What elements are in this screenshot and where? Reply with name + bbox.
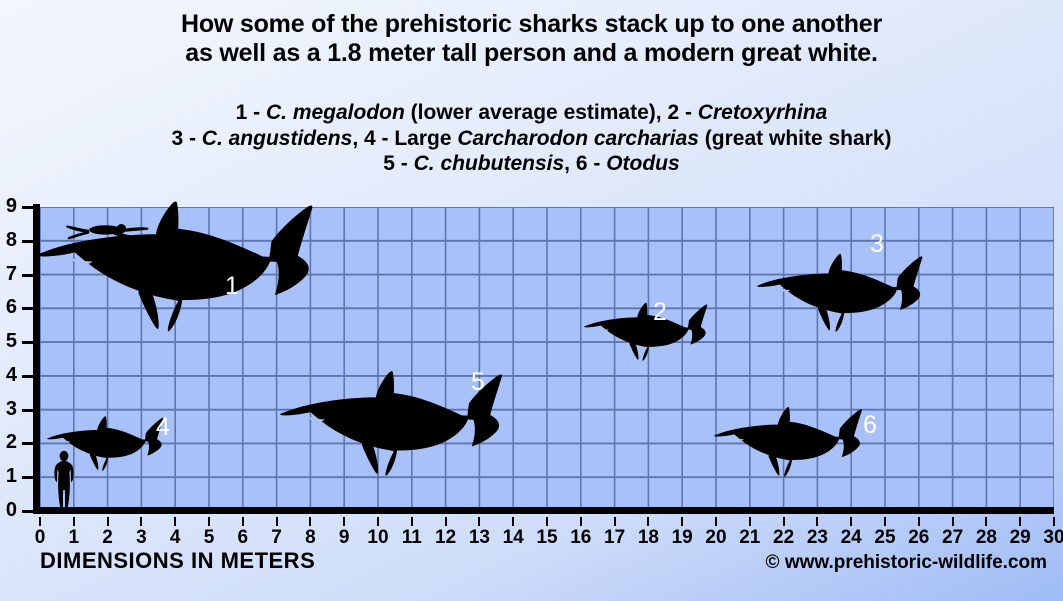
legend-1-note: (lower average estimate), 2 - bbox=[405, 101, 698, 124]
legend-5-index: 5 - bbox=[383, 152, 413, 175]
x-tick-mark-2 bbox=[107, 517, 109, 526]
x-tick-label-2: 2 bbox=[102, 528, 113, 547]
x-tick-label-0: 0 bbox=[35, 528, 46, 547]
legend-row-2: 3 - C. angustidens, 4 - Large Carcharodo… bbox=[0, 126, 1063, 152]
plot-area: 1 2 3 bbox=[40, 207, 1054, 511]
shark-2-label: 2 bbox=[653, 298, 667, 326]
y-tick-label-3: 3 bbox=[0, 399, 17, 419]
shark-5-label: 5 bbox=[471, 368, 485, 396]
x-tick-mark-3 bbox=[140, 517, 142, 526]
legend-6-index: , 6 - bbox=[564, 152, 606, 175]
legend-4-index: , 4 - Large bbox=[352, 127, 457, 150]
x-tick-label-29: 29 bbox=[1010, 528, 1031, 547]
y-tick-label-4: 4 bbox=[0, 365, 17, 385]
x-tick-mark-22 bbox=[783, 517, 785, 526]
title-line-2: as well as a 1.8 meter tall person and a… bbox=[0, 39, 1063, 68]
x-tick-mark-14 bbox=[512, 517, 514, 526]
x-tick-mark-13 bbox=[478, 517, 480, 526]
x-tick-mark-28 bbox=[985, 517, 987, 526]
legend-3-species: C. angustidens bbox=[202, 127, 353, 150]
x-tick-mark-17 bbox=[614, 517, 616, 526]
x-tick-mark-23 bbox=[816, 517, 818, 526]
x-tick-label-24: 24 bbox=[841, 528, 862, 547]
shark-5-chubutensis bbox=[280, 371, 502, 476]
shark-3-label: 3 bbox=[870, 230, 884, 258]
legend-6-species: Otodus bbox=[606, 152, 680, 175]
x-tick-label-28: 28 bbox=[976, 528, 997, 547]
page-title: How some of the prehistoric sharks stack… bbox=[0, 10, 1063, 68]
legend-1-species: C. megalodon bbox=[266, 101, 405, 124]
shark-6-otodus bbox=[714, 407, 862, 477]
x-tick-mark-19 bbox=[681, 517, 683, 526]
x-tick-label-23: 23 bbox=[807, 528, 828, 547]
x-tick-mark-29 bbox=[1019, 517, 1021, 526]
x-tick-label-30: 30 bbox=[1043, 528, 1063, 547]
x-tick-label-19: 19 bbox=[672, 528, 693, 547]
y-tick-label-6: 6 bbox=[0, 297, 17, 317]
x-tick-mark-0 bbox=[39, 517, 41, 526]
infographic-page: How some of the prehistoric sharks stack… bbox=[0, 0, 1063, 601]
x-axis-line bbox=[33, 507, 1054, 514]
x-tick-label-22: 22 bbox=[773, 528, 794, 547]
shark-3-angustidens bbox=[757, 254, 922, 332]
y-tick-label-1: 1 bbox=[0, 466, 17, 486]
shark-4-label: 4 bbox=[156, 413, 170, 441]
x-tick-mark-4 bbox=[174, 517, 176, 526]
x-tick-label-15: 15 bbox=[536, 528, 557, 547]
y-tick-label-8: 8 bbox=[0, 230, 17, 250]
silhouette-layer: 1 2 3 bbox=[40, 207, 1054, 511]
x-tick-label-11: 11 bbox=[402, 528, 422, 547]
x-tick-mark-26 bbox=[918, 517, 920, 526]
x-tick-label-25: 25 bbox=[874, 528, 895, 547]
x-tick-label-26: 26 bbox=[908, 528, 929, 547]
shark-2-cretoxyrhina bbox=[584, 303, 707, 361]
x-tick-mark-18 bbox=[647, 517, 649, 526]
x-tick-mark-24 bbox=[850, 517, 852, 526]
legend-5-species: C. chubutensis bbox=[414, 152, 565, 175]
x-tick-mark-16 bbox=[580, 517, 582, 526]
x-tick-label-8: 8 bbox=[305, 528, 316, 547]
legend-4-species: Carcharodon carcharias bbox=[457, 127, 699, 150]
y-tick-label-2: 2 bbox=[0, 432, 17, 452]
legend-4-note: (great white shark) bbox=[699, 127, 892, 150]
x-tick-label-1: 1 bbox=[69, 528, 80, 547]
standing-person-silhouette bbox=[54, 451, 73, 511]
x-tick-label-17: 17 bbox=[604, 528, 625, 547]
x-tick-label-14: 14 bbox=[503, 528, 524, 547]
shark-6-label: 6 bbox=[863, 411, 877, 439]
x-tick-label-5: 5 bbox=[204, 528, 215, 547]
x-tick-label-21: 21 bbox=[739, 528, 760, 547]
x-tick-label-4: 4 bbox=[170, 528, 181, 547]
x-tick-label-6: 6 bbox=[238, 528, 249, 547]
species-legend: 1 - C. megalodon (lower average estimate… bbox=[0, 100, 1063, 177]
x-tick-label-3: 3 bbox=[136, 528, 147, 547]
legend-2-species: Cretoxyrhina bbox=[698, 101, 828, 124]
x-tick-label-16: 16 bbox=[570, 528, 591, 547]
x-axis-labels: 0123456789101112131415161718192021222324… bbox=[0, 517, 1063, 549]
x-tick-mark-6 bbox=[242, 517, 244, 526]
legend-row-3: 5 - C. chubutensis, 6 - Otodus bbox=[0, 151, 1063, 177]
x-tick-label-20: 20 bbox=[705, 528, 726, 547]
x-tick-mark-12 bbox=[445, 517, 447, 526]
x-tick-mark-7 bbox=[276, 517, 278, 526]
x-tick-label-10: 10 bbox=[367, 528, 388, 547]
x-tick-label-9: 9 bbox=[339, 528, 350, 547]
credit-watermark: © www.prehistoric-wildlife.com bbox=[766, 552, 1047, 574]
y-tick-label-7: 7 bbox=[0, 264, 17, 284]
y-tick-label-5: 5 bbox=[0, 331, 17, 351]
legend-3-index: 3 - bbox=[171, 127, 201, 150]
x-tick-mark-9 bbox=[343, 517, 345, 526]
title-line-1: How some of the prehistoric sharks stack… bbox=[181, 10, 882, 38]
x-tick-label-12: 12 bbox=[435, 528, 456, 547]
x-tick-mark-8 bbox=[309, 517, 311, 526]
legend-row-1: 1 - C. megalodon (lower average estimate… bbox=[0, 100, 1063, 126]
x-tick-mark-1 bbox=[73, 517, 75, 526]
x-tick-mark-21 bbox=[749, 517, 751, 526]
size-comparison-chart: 9876543210 1 bbox=[0, 197, 1063, 527]
shark-1-megalodon bbox=[37, 201, 312, 331]
y-axis-line bbox=[33, 204, 40, 514]
shark-1-label: 1 bbox=[225, 272, 239, 300]
x-tick-mark-15 bbox=[546, 517, 548, 526]
x-tick-label-27: 27 bbox=[942, 528, 963, 547]
x-tick-mark-5 bbox=[208, 517, 210, 526]
y-tick-label-9: 9 bbox=[0, 196, 17, 216]
x-tick-label-18: 18 bbox=[638, 528, 659, 547]
x-axis-title: DIMENSIONS IN METERS bbox=[40, 548, 315, 574]
x-tick-label-7: 7 bbox=[271, 528, 282, 547]
x-tick-mark-11 bbox=[411, 517, 413, 526]
x-tick-mark-25 bbox=[884, 517, 886, 526]
x-tick-label-13: 13 bbox=[469, 528, 490, 547]
x-tick-mark-30 bbox=[1053, 517, 1055, 526]
x-tick-mark-20 bbox=[715, 517, 717, 526]
legend-1-index: 1 - bbox=[236, 101, 266, 124]
x-tick-mark-10 bbox=[377, 517, 379, 526]
x-tick-mark-27 bbox=[952, 517, 954, 526]
